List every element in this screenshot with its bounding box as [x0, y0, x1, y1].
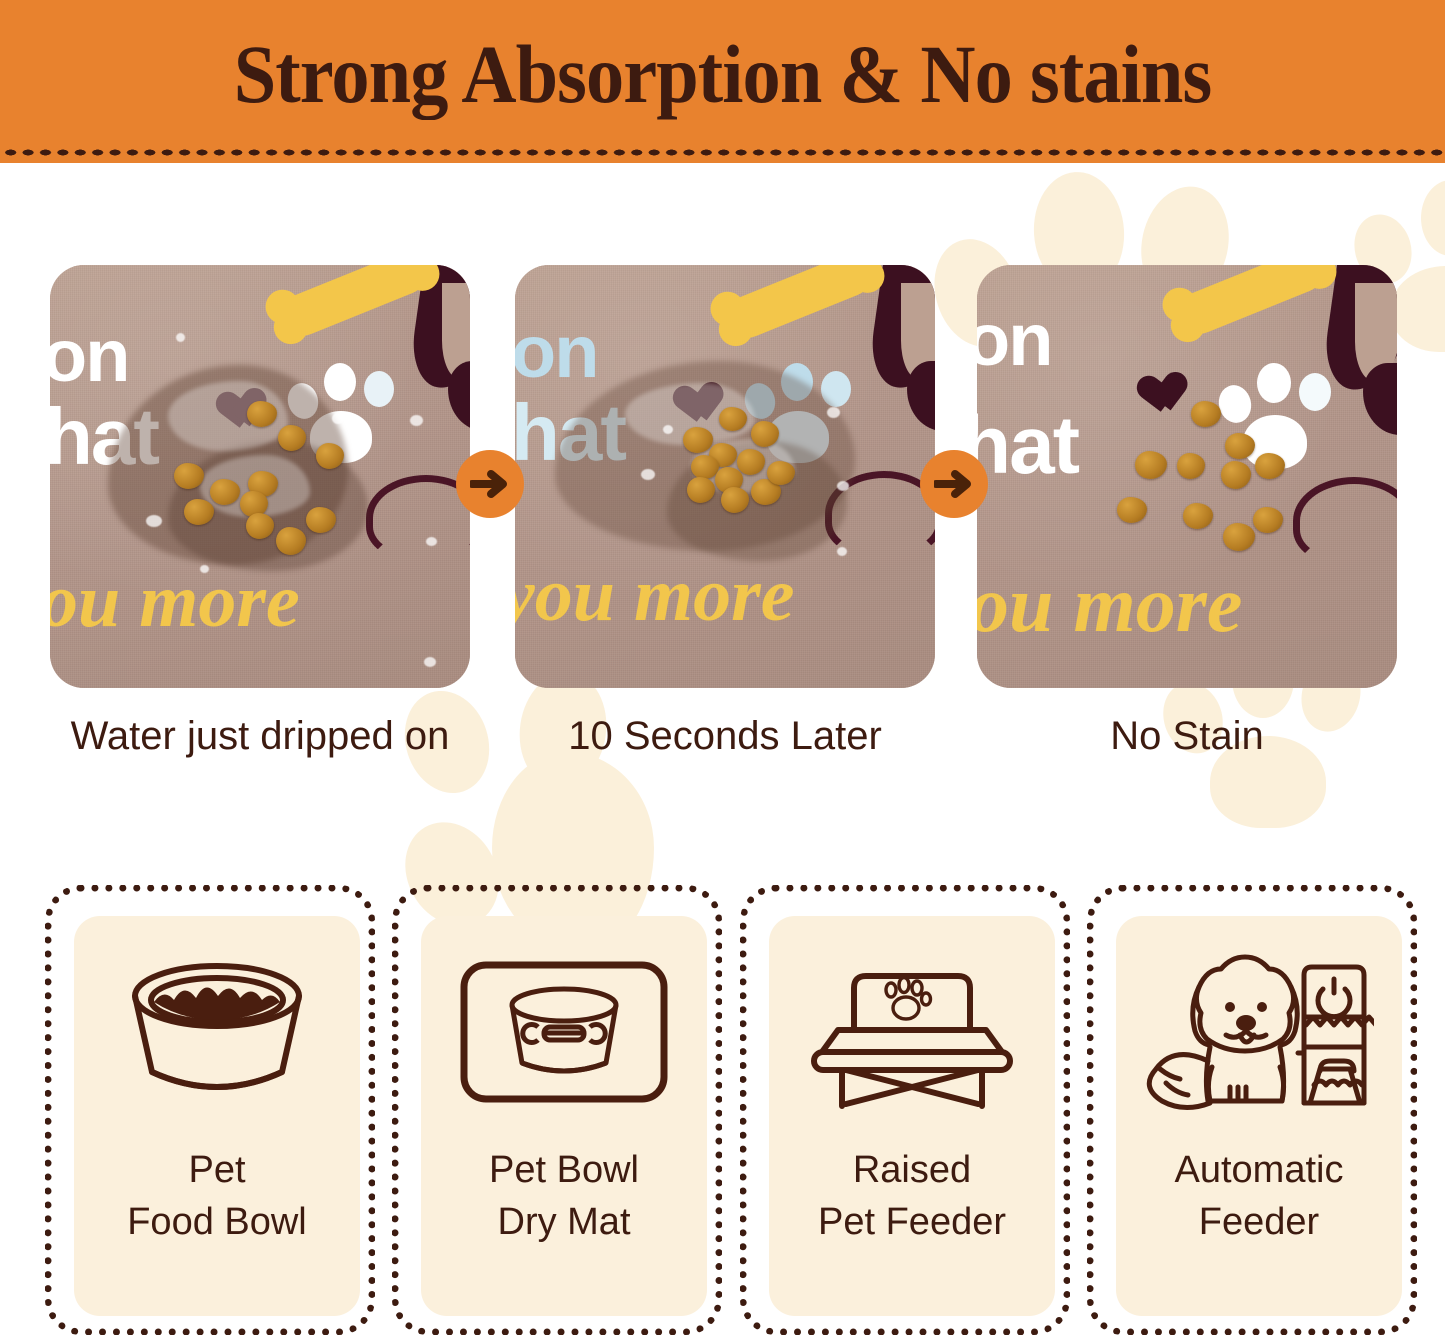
water-droplet — [426, 537, 437, 546]
arrow-right-icon — [920, 450, 988, 518]
card-inner-panel: Pet Food Bowl — [74, 916, 360, 1316]
header-dotted-divider — [0, 148, 1445, 157]
usage-card-label-line2: Food Bowl — [74, 1196, 360, 1248]
card-inner-panel: Raised Pet Feeder — [769, 916, 1055, 1316]
usage-card-label-line1: Pet — [74, 1144, 360, 1196]
usage-card-label-line1: Raised — [769, 1144, 1055, 1196]
demo-caption: No Stain — [977, 710, 1397, 763]
card-inner-panel: Pet Bowl Dry Mat — [421, 916, 707, 1316]
demo-photo-ten-seconds: on hat you more — [515, 265, 935, 688]
raised-pet-feeder-icon — [769, 938, 1055, 1126]
demo-photo-water-dripped: on hat ou more — [50, 265, 470, 688]
usage-card-label: Pet Bowl Dry Mat — [421, 1144, 707, 1249]
usage-card-automatic-feeder[interactable]: Automatic Feeder — [1087, 885, 1417, 1335]
automatic-feeder-icon — [1116, 938, 1402, 1126]
demo-photo-no-stain: on hat ou more — [977, 265, 1397, 688]
absorption-demo-section: on hat ou more — [0, 163, 1445, 853]
water-droplet — [410, 415, 423, 426]
usage-card-label-line2: Feeder — [1116, 1196, 1402, 1248]
water-droplet — [827, 407, 840, 418]
infographic-page: Strong Absorption & No stains on hat ou … — [0, 0, 1445, 1342]
mat-print-text-more: you more — [515, 557, 794, 633]
water-droplet — [641, 469, 655, 480]
usage-card-raised-pet-feeder[interactable]: Raised Pet Feeder — [740, 885, 1070, 1335]
mat-print-text-that: hat — [977, 405, 1078, 487]
pet-bowl-dry-mat-icon — [421, 938, 707, 1126]
usage-card-pet-bowl-dry-mat[interactable]: Pet Bowl Dry Mat — [392, 885, 722, 1335]
page-title: Strong Absorption & No stains — [58, 26, 1387, 122]
product-usage-cards: Pet Food Bowl — [0, 885, 1445, 1342]
usage-card-label: Pet Food Bowl — [74, 1144, 360, 1249]
usage-card-label-line2: Pet Feeder — [769, 1196, 1055, 1248]
mat-print-text-on: on — [977, 303, 1051, 377]
usage-card-pet-food-bowl[interactable]: Pet Food Bowl — [45, 885, 375, 1335]
mat-print-paw-outline — [1293, 477, 1397, 565]
mat-print-text-more: ou more — [977, 565, 1242, 645]
water-droplet — [146, 515, 162, 527]
demo-caption: 10 Seconds Later — [515, 710, 935, 763]
mat-print-text-more: ou more — [50, 563, 300, 639]
usage-card-label-line2: Dry Mat — [421, 1196, 707, 1248]
mat-print-paw-outline — [366, 475, 470, 561]
water-droplet — [332, 413, 344, 424]
demo-caption: Water just dripped on — [50, 710, 470, 763]
usage-card-label-line1: Pet Bowl — [421, 1144, 707, 1196]
arrow-right-icon — [456, 450, 524, 518]
mat-print-text-on: on — [515, 315, 597, 389]
water-droplet — [424, 657, 436, 667]
water-droplet — [837, 547, 847, 556]
pet-food-bowl-icon — [74, 938, 360, 1126]
header-banner: Strong Absorption & No stains — [0, 0, 1445, 163]
water-droplet — [200, 565, 209, 573]
water-droplet — [663, 425, 673, 434]
card-inner-panel: Automatic Feeder — [1116, 916, 1402, 1316]
water-droplet — [176, 333, 185, 342]
water-droplet — [837, 481, 849, 491]
usage-card-label-line1: Automatic — [1116, 1144, 1402, 1196]
usage-card-label: Raised Pet Feeder — [769, 1144, 1055, 1249]
usage-card-label: Automatic Feeder — [1116, 1144, 1402, 1249]
mat-print-text-on: on — [50, 319, 128, 393]
mat-print-heart — [1146, 354, 1195, 400]
